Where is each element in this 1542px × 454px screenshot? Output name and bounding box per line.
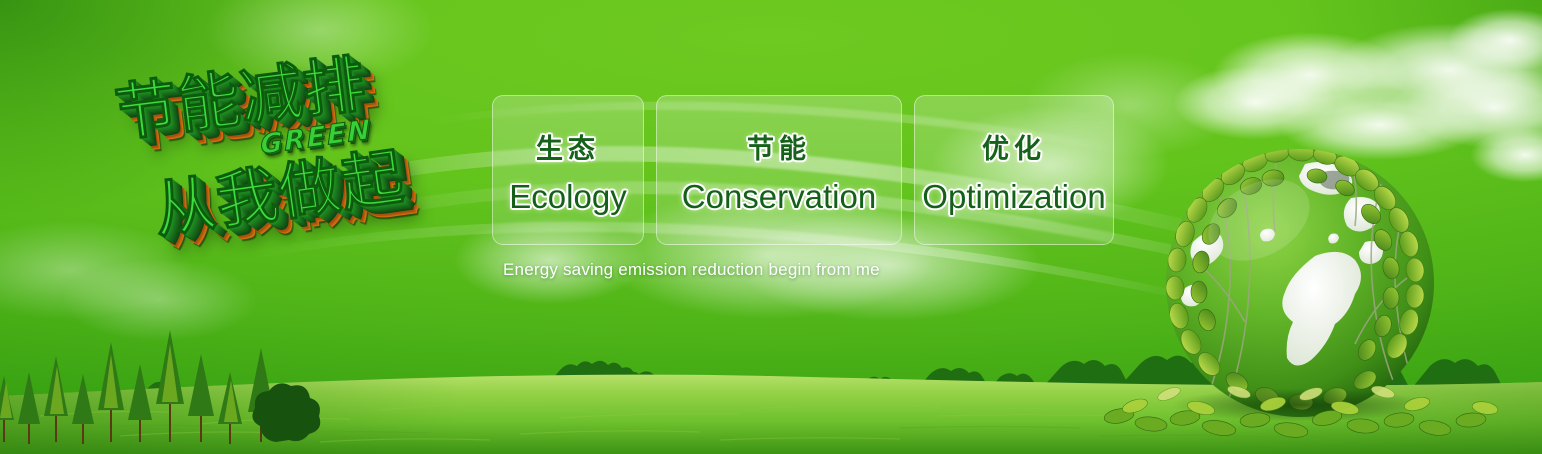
feature-card-conservation[interactable]: 节能 Conservation (656, 95, 902, 245)
tagline-text: Energy saving emission reduction begin f… (503, 260, 880, 280)
cloud-icon (1185, 20, 1435, 130)
feature-card-en-label: Conservation (682, 180, 876, 213)
fallen-leaves (1089, 374, 1509, 444)
cloud-icon (1150, 55, 1360, 150)
headline-3d-text: 节能减排 GREEN 从我做起 (92, 38, 492, 273)
feature-card-en-label: Ecology (509, 180, 626, 213)
feature-card-cn-label: 节能 (747, 127, 811, 166)
cloud-icon (1455, 120, 1542, 190)
feature-card-en-label: Optimization (922, 180, 1105, 213)
cloud-icon (1430, 0, 1542, 80)
feature-card-group: 生态 Ecology 节能 Conservation 优化 Optimizati… (492, 95, 1114, 245)
feature-card-optimization[interactable]: 优化 Optimization (914, 95, 1114, 245)
feature-card-cn-label: 生态 (536, 127, 600, 166)
earth-globe (1155, 138, 1445, 428)
eco-banner: 节能减排 GREEN 从我做起 生态 Ecology 节能 Conservati… (0, 0, 1542, 454)
cloud-icon (1300, 10, 1542, 130)
feature-card-ecology[interactable]: 生态 Ecology (492, 95, 644, 245)
feature-card-cn-label: 优化 (982, 127, 1046, 166)
